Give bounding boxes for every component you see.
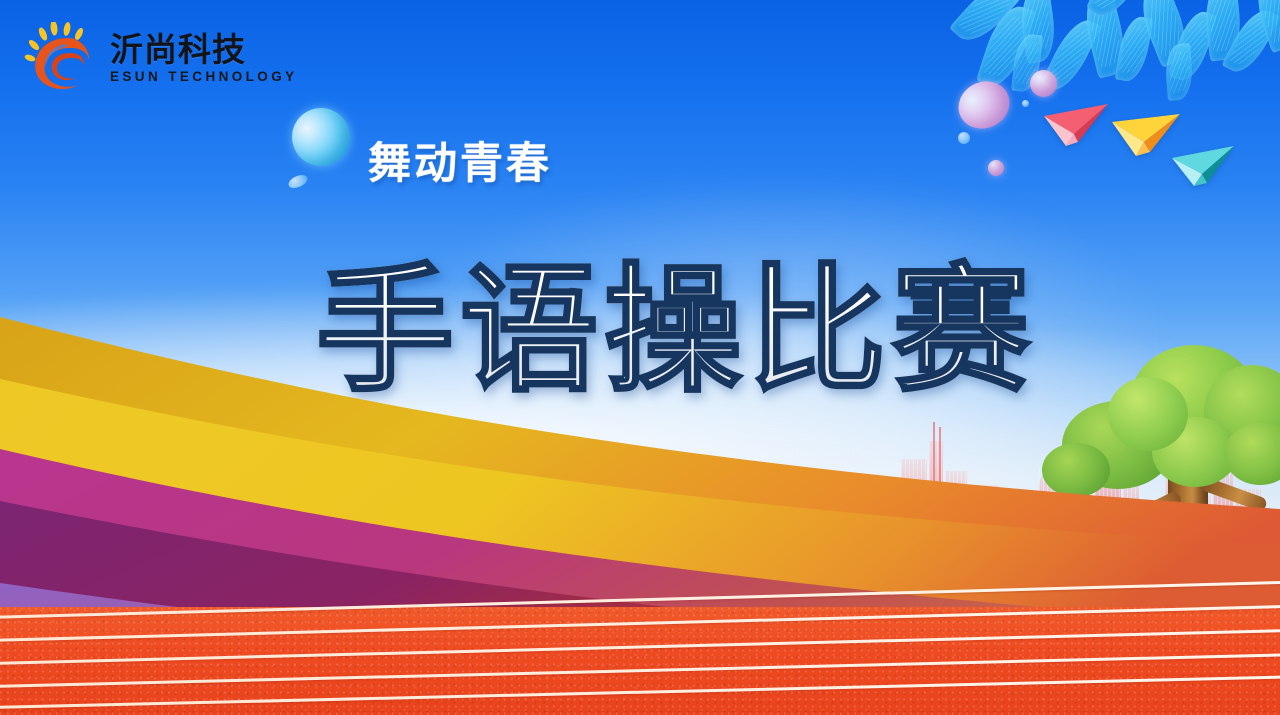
paper-plane-yellow: [1112, 112, 1180, 158]
paper-plane-teal: [1172, 144, 1234, 188]
cyan-bubble-tiny: [958, 132, 970, 144]
running-track: [0, 607, 1280, 715]
swirl-sun-logo-icon: [24, 22, 102, 94]
pink-bubble-tiny: [988, 160, 1004, 176]
poster-canvas: 沂尚科技 ESUN TECHNOLOGY 舞动青春 手语操比赛: [0, 0, 1280, 715]
brand-logo[interactable]: 沂尚科技 ESUN TECHNOLOGY: [24, 22, 298, 94]
logo-name-cn: 沂尚科技: [110, 33, 298, 66]
logo-name-en: ESUN TECHNOLOGY: [110, 70, 298, 84]
poster-subtitle: 舞动青春: [368, 129, 552, 191]
cyan-bubble-micro: [1022, 100, 1029, 107]
paper-plane-pink: [1044, 104, 1108, 148]
logo-text-block: 沂尚科技 ESUN TECHNOLOGY: [110, 33, 298, 84]
pink-bubble-medium: [1030, 70, 1057, 97]
